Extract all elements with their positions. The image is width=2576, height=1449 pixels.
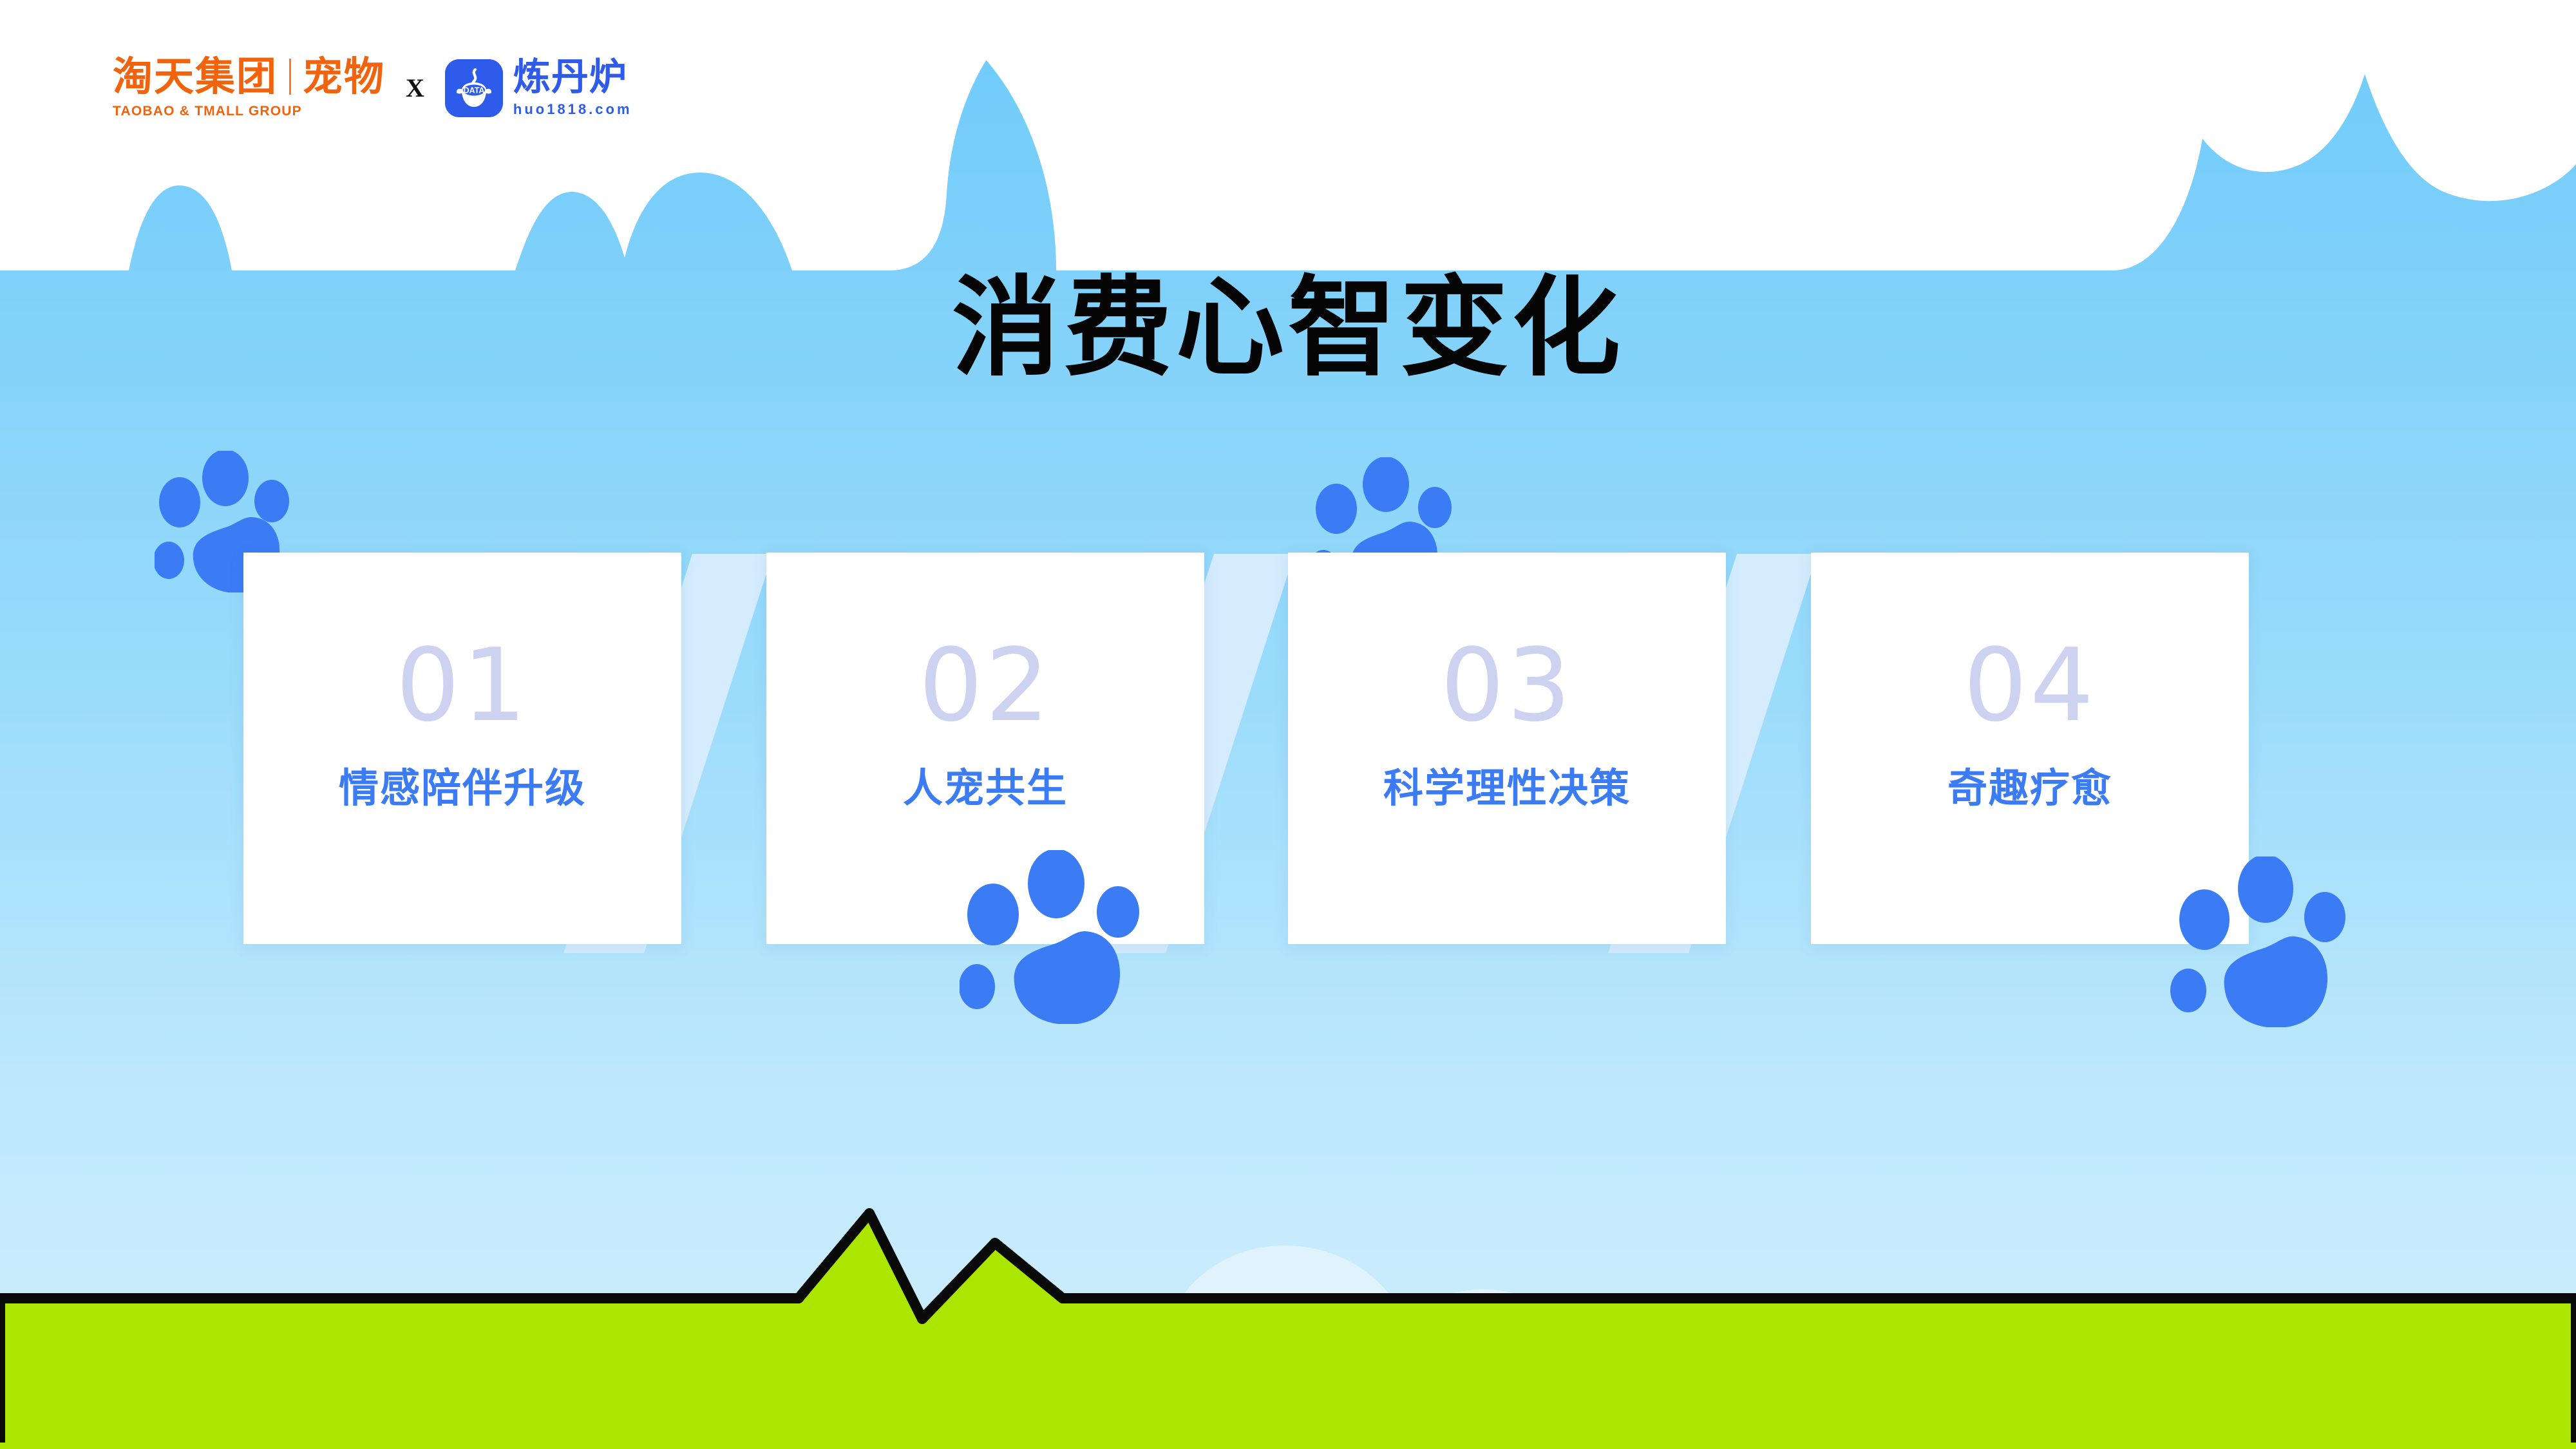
taobao-tmall-logo-row: 淘天集团 宠物 <box>113 57 385 97</box>
data-cauldron-icon: DATA <box>445 59 503 117</box>
taobao-tmall-category-text: 宠物 <box>303 57 385 97</box>
card-label: 情感陪伴升级 <box>243 765 681 811</box>
ground-illustration <box>0 1204 2576 1449</box>
card-label: 科学理性决策 <box>1288 765 1726 811</box>
card-label: 人宠共生 <box>766 765 1204 811</box>
slide-root: 淘天集团 宠物 TAOBAO & TMALL GROUP X DATA <box>0 0 2576 1449</box>
taobao-tmall-en-text: TAOBAO & TMALL GROUP <box>113 104 302 119</box>
huo1818-logo-text: 炼丹炉 huo1818.com <box>513 58 632 118</box>
card-number: 04 <box>1811 635 2249 735</box>
partnership-x-icon: X <box>402 73 428 103</box>
svg-text:DATA: DATA <box>463 86 484 95</box>
paw-print-icon <box>960 850 1153 1024</box>
card-number: 02 <box>766 635 1204 735</box>
card-label: 奇趣疗愈 <box>1811 765 2249 811</box>
cloud-band-top <box>0 0 2576 270</box>
taobao-tmall-cn-text: 淘天集团 <box>113 57 278 97</box>
paw-print-icon <box>2170 857 2357 1027</box>
card-number: 03 <box>1288 635 1726 735</box>
logo-bar: 淘天集团 宠物 TAOBAO & TMALL GROUP X DATA <box>113 57 632 119</box>
taobao-tmall-logo: 淘天集团 宠物 TAOBAO & TMALL GROUP <box>113 57 385 119</box>
page-title: 消费心智变化 <box>0 267 2576 388</box>
logo-divider <box>289 59 291 95</box>
card-number: 01 <box>243 635 681 735</box>
huo1818-en-text: huo1818.com <box>513 101 632 118</box>
concept-card-01[interactable]: 01 情感陪伴升级 <box>243 553 681 944</box>
huo1818-cn-text: 炼丹炉 <box>513 58 627 95</box>
concept-card-03[interactable]: 03 科学理性决策 <box>1288 553 1726 944</box>
huo1818-logo: DATA 炼丹炉 huo1818.com <box>445 58 632 118</box>
